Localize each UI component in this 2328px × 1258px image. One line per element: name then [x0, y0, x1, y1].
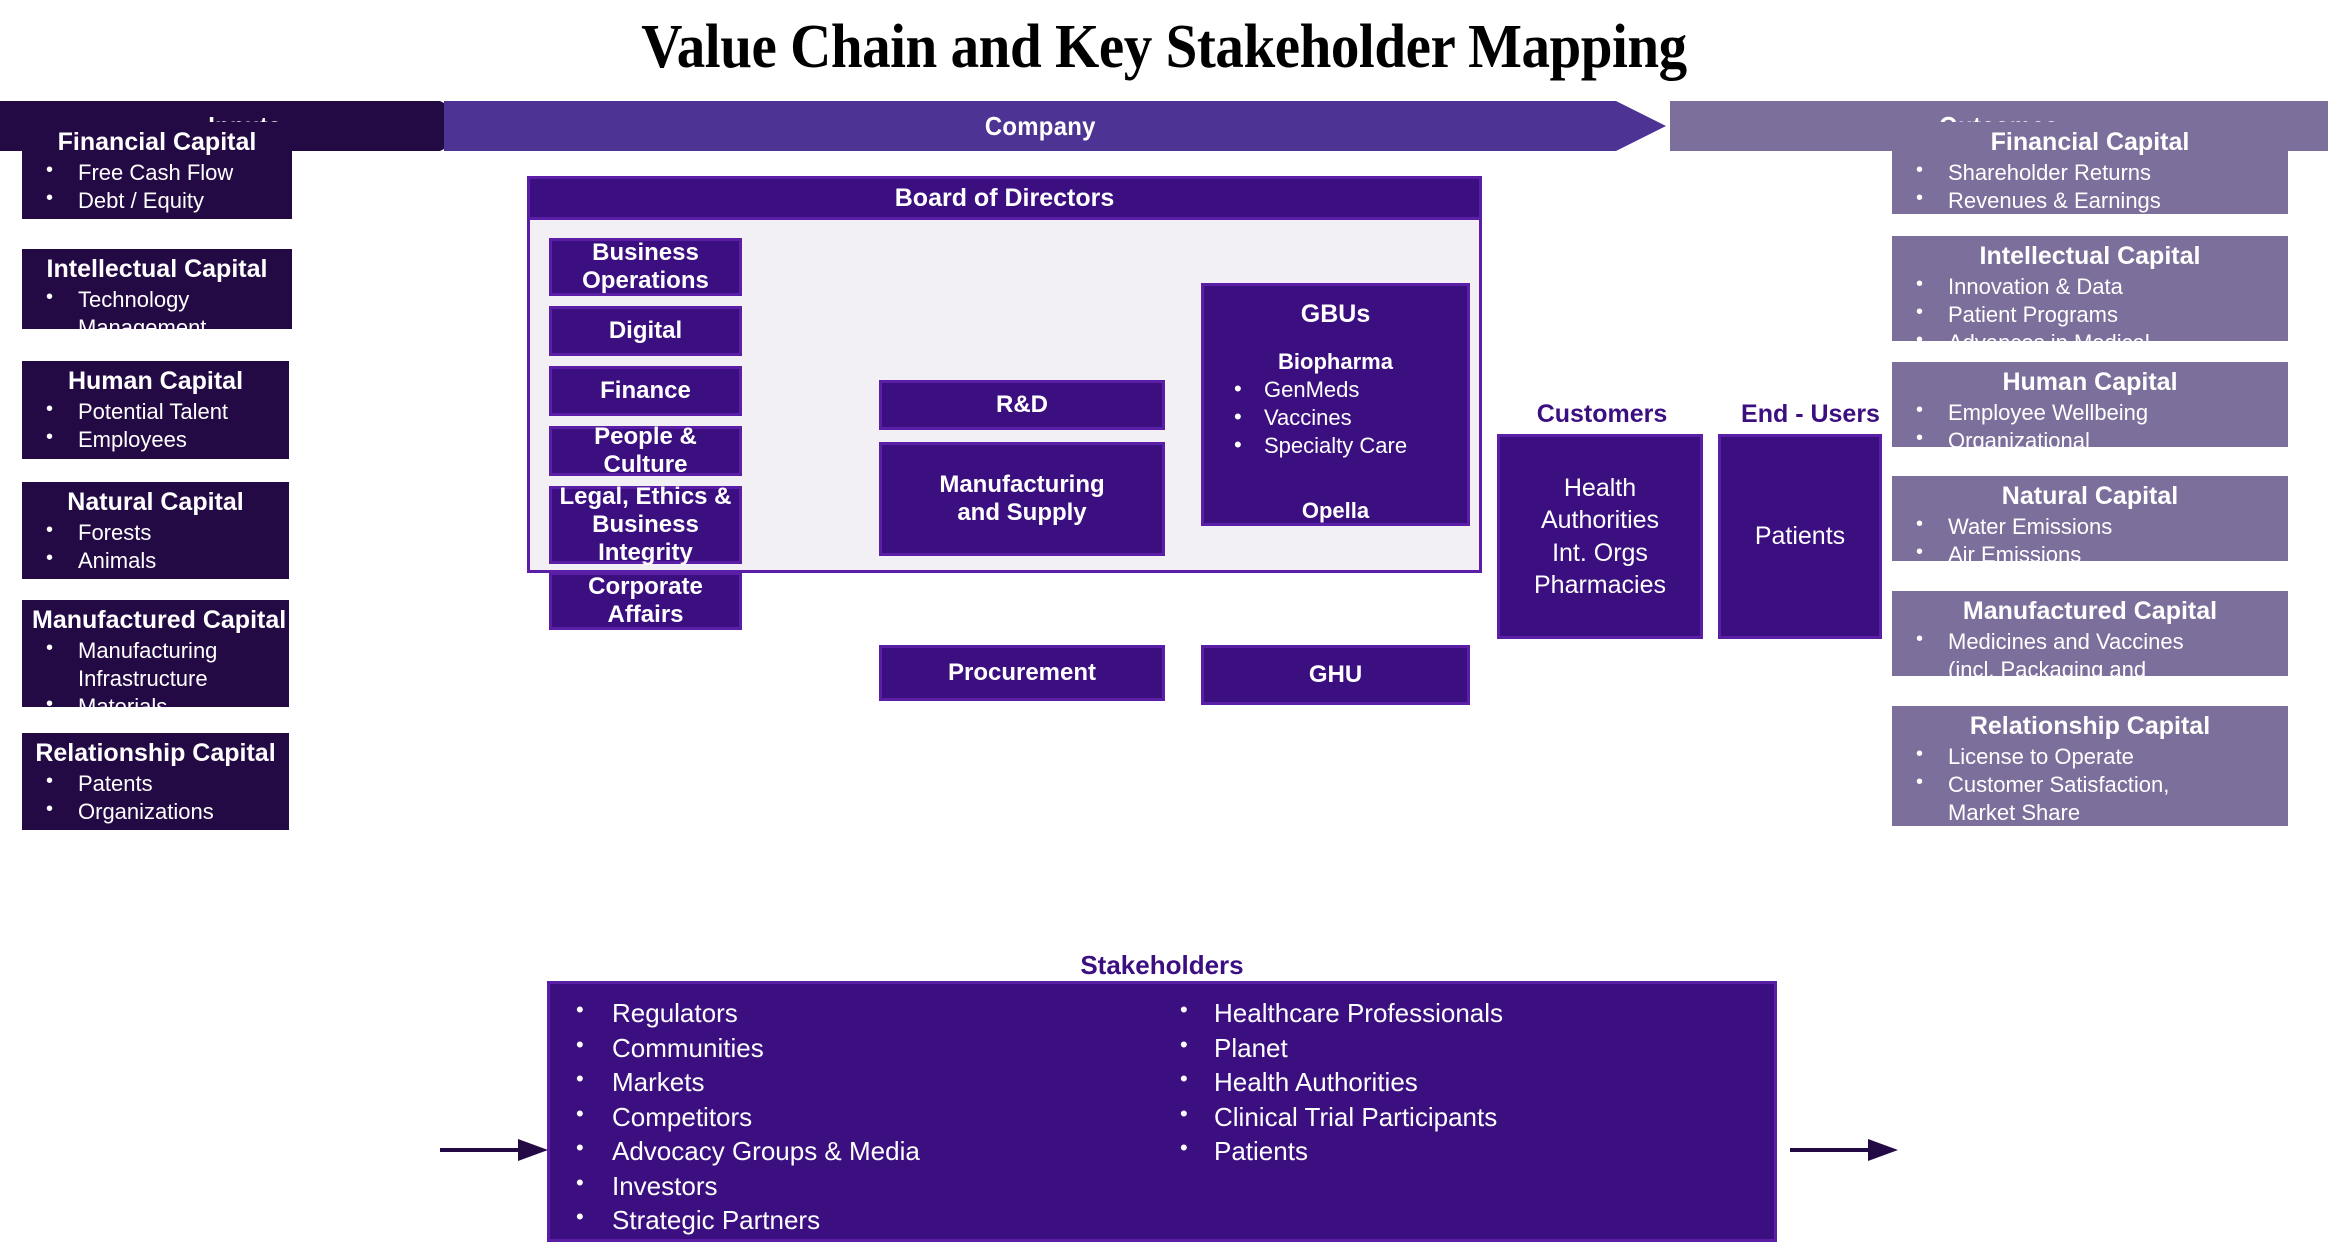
gbus-box[interactable]: GBUs Biopharma GenMedsVaccinesSpecialty … [1201, 283, 1470, 526]
input-card-2[interactable]: Human CapitalPotential TalentEmployeesCo… [22, 361, 289, 459]
function-box-mid-1[interactable]: Manufacturing and Supply [879, 442, 1165, 556]
ghu-box[interactable]: GHU [1201, 645, 1470, 705]
card-list: PatentsOrganizationsStakeholder Engageme… [32, 770, 279, 883]
outcome-card-2[interactable]: Human CapitalEmployee WellbeingOrganizat… [1892, 362, 2288, 447]
card-title: Manufactured Capital [32, 606, 279, 635]
end-users-box[interactable]: Patients [1718, 434, 1882, 639]
org-box-label: Procurement [948, 659, 1096, 687]
arrow-stakeholders-to-outcomes [1790, 1136, 1900, 1164]
gbus-footer: Opella [1204, 498, 1467, 524]
list-item: Advocacy Groups & Media [550, 1134, 1162, 1169]
outcome-card-1[interactable]: Intellectual CapitalInnovation & DataPat… [1892, 236, 2288, 341]
list-item: Debt / Equity Financing [32, 187, 282, 243]
list-item: Communities [550, 1031, 1162, 1066]
org-box-label: R&D [996, 391, 1048, 419]
card-list: Potential TalentEmployeesContract Labor [32, 398, 279, 482]
input-card-3[interactable]: Natural CapitalForestsAnimalsWater [22, 482, 289, 579]
arrow-inputs-to-stakeholders [440, 1136, 550, 1164]
list-item: Strategic Partners [550, 1203, 1162, 1238]
stakeholders-label: Stakeholders [547, 950, 1777, 981]
list-item: Infrastructure [32, 665, 279, 693]
function-box-left-5[interactable]: Corporate Affairs [549, 572, 742, 630]
list-item: Air Emissions [1902, 541, 2278, 569]
card-list: Water EmissionsAir EmissionsBiodiversity… [1902, 513, 2278, 597]
list-item: Clinical Trial Participants [1162, 1100, 1774, 1135]
org-box-label: Digital [609, 317, 682, 345]
list-item: Medicines and Vaccines [1902, 628, 2278, 656]
function-box-left-3[interactable]: People & Culture [549, 426, 742, 476]
list-item: Potential Talent [32, 398, 279, 426]
list-item: (incl. Packaging and [1902, 656, 2278, 684]
input-card-4[interactable]: Manufactured CapitalManufacturingInfrast… [22, 600, 289, 707]
list-item: Free Cash Flow [32, 159, 282, 187]
gbus-subtitle: Biopharma [1204, 349, 1467, 375]
banner-segment-company[interactable]: Company [444, 101, 1666, 151]
list-item: Animals [32, 547, 279, 575]
card-list: License to OperateCustomer Satisfaction,… [1902, 743, 2278, 884]
org-box-label: Legal, Ethics & Business Integrity [559, 483, 731, 568]
stakeholders-right-list: Healthcare ProfessionalsPlanetHealth Aut… [1162, 996, 1774, 1169]
list-item: Patient Programs [1902, 301, 2278, 329]
list-item: Technology Management [32, 286, 282, 342]
list-item: Employee Wellbeing [1902, 399, 2278, 427]
outcome-card-0[interactable]: Financial CapitalShareholder ReturnsReve… [1892, 122, 2288, 214]
card-title: Relationship Capital [32, 739, 279, 768]
function-box-left-4[interactable]: Legal, Ethics & Business Integrity [549, 486, 742, 564]
list-item: Investors [550, 1169, 1162, 1204]
list-item: Water Emissions [1902, 513, 2278, 541]
card-title: Natural Capital [1902, 482, 2278, 511]
list-item: Markets [550, 1065, 1162, 1100]
end-users-box-text: Patients [1755, 520, 1845, 553]
list-item: Industry Leader [1902, 856, 2278, 884]
outcome-card-3[interactable]: Natural CapitalWater EmissionsAir Emissi… [1892, 476, 2288, 561]
card-list: Employee WellbeingOrganizationalCompeten… [1902, 399, 2278, 483]
list-item: License to Operate [1902, 743, 2278, 771]
card-title: Human Capital [1902, 368, 2278, 397]
function-box-mid-0[interactable]: R&D [879, 380, 1165, 430]
input-card-0[interactable]: Financial CapitalFree Cash FlowDebt / Eq… [22, 122, 292, 219]
function-box-left-0[interactable]: Business Operations [549, 238, 742, 296]
list-item: Contract Labor [32, 454, 279, 482]
list-item: Materials [32, 693, 279, 721]
list-item: Stakeholder Engagement [32, 826, 279, 882]
stakeholders-box[interactable]: RegulatorsCommunitiesMarketsCompetitorsA… [547, 981, 1777, 1242]
customers-box-text: Health Authorities Int. Orgs Pharmacies [1534, 472, 1666, 602]
gbus-list: GenMedsVaccinesSpecialty Care [1204, 376, 1467, 460]
org-box-label: Finance [600, 377, 691, 405]
list-item: Planet [1162, 1031, 1774, 1066]
customers-label: Customers [1497, 400, 1707, 429]
list-item: Healthcare Professionals [1162, 996, 1774, 1031]
card-list: ForestsAnimalsWater [32, 519, 279, 603]
stakeholders-right-column: Healthcare ProfessionalsPlanetHealth Aut… [1162, 984, 1774, 1239]
outcome-card-4[interactable]: Manufactured CapitalMedicines and Vaccin… [1892, 591, 2288, 676]
list-item: Customer Satisfaction, [1902, 771, 2278, 799]
org-box-label: Manufacturing and Supply [939, 471, 1104, 528]
function-box-left-2[interactable]: Finance [549, 366, 742, 416]
card-title: Manufactured Capital [1902, 597, 2278, 626]
list-item: Shareholder Returns [1902, 159, 2278, 187]
list-item: Forests [32, 519, 279, 547]
list-item: Regulators [550, 996, 1162, 1031]
gbus-list-item: Specialty Care [1226, 432, 1467, 460]
card-list: Technology ManagementIndustry Knowledge [32, 286, 282, 370]
org-box-label: People & Culture [594, 423, 697, 480]
list-item: Innovation & Data [1902, 273, 2278, 301]
card-title: Natural Capital [32, 488, 279, 517]
card-title: Human Capital [32, 367, 279, 396]
function-box-mid-2[interactable]: Procurement [879, 645, 1165, 701]
customers-box[interactable]: Health Authorities Int. Orgs Pharmacies [1497, 434, 1703, 639]
list-item: Market Share [1902, 799, 2278, 827]
stakeholders-left-list: RegulatorsCommunitiesMarketsCompetitorsA… [550, 996, 1162, 1238]
gbus-list-item: Vaccines [1226, 404, 1467, 432]
card-list: Medicines and Vaccines(incl. Packaging a… [1902, 628, 2278, 712]
list-item: Organizational [1902, 427, 2278, 455]
gbus-list-item: GenMeds [1226, 376, 1467, 404]
card-title: Intellectual Capital [32, 255, 282, 284]
list-item: Organizations [32, 798, 279, 826]
card-title: Intellectual Capital [1902, 242, 2278, 271]
board-of-directors-label: Board of Directors [895, 184, 1114, 213]
input-card-1[interactable]: Intellectual CapitalTechnology Managemen… [22, 249, 292, 329]
org-box-label: Business Operations [582, 239, 709, 296]
list-item: Competitors [550, 1100, 1162, 1135]
list-item: Patents [32, 770, 279, 798]
card-title: Financial Capital [1902, 128, 2278, 157]
stakeholders-left-column: RegulatorsCommunitiesMarketsCompetitorsA… [550, 984, 1162, 1239]
list-item: Revenues & Earnings [1902, 187, 2278, 215]
banner-company-label: Company [985, 111, 1096, 142]
board-of-directors-bar[interactable]: Board of Directors [527, 176, 1482, 220]
input-card-5[interactable]: Relationship CapitalPatentsOrganizations… [22, 733, 289, 830]
function-box-left-1[interactable]: Digital [549, 306, 742, 356]
page-title: Value Chain and Key Stakeholder Mapping [93, 12, 2235, 83]
card-title: Relationship Capital [1902, 712, 2278, 741]
list-item: Patients [1162, 1134, 1774, 1169]
outcome-card-5[interactable]: Relationship CapitalLicense to OperateCu… [1892, 706, 2288, 826]
list-item: Strategic Partnerships [1902, 827, 2278, 855]
list-item: Health Authorities [1162, 1065, 1774, 1100]
gbus-title: GBUs [1204, 300, 1467, 329]
card-title: Financial Capital [32, 128, 282, 157]
org-box-label: Corporate Affairs [588, 573, 703, 630]
list-item: Manufacturing [32, 637, 279, 665]
ghu-label: GHU [1309, 661, 1362, 689]
end-users-label: End - Users [1718, 400, 1903, 429]
list-item: Employees [32, 426, 279, 454]
list-item: Advances in Medical [1902, 329, 2278, 357]
